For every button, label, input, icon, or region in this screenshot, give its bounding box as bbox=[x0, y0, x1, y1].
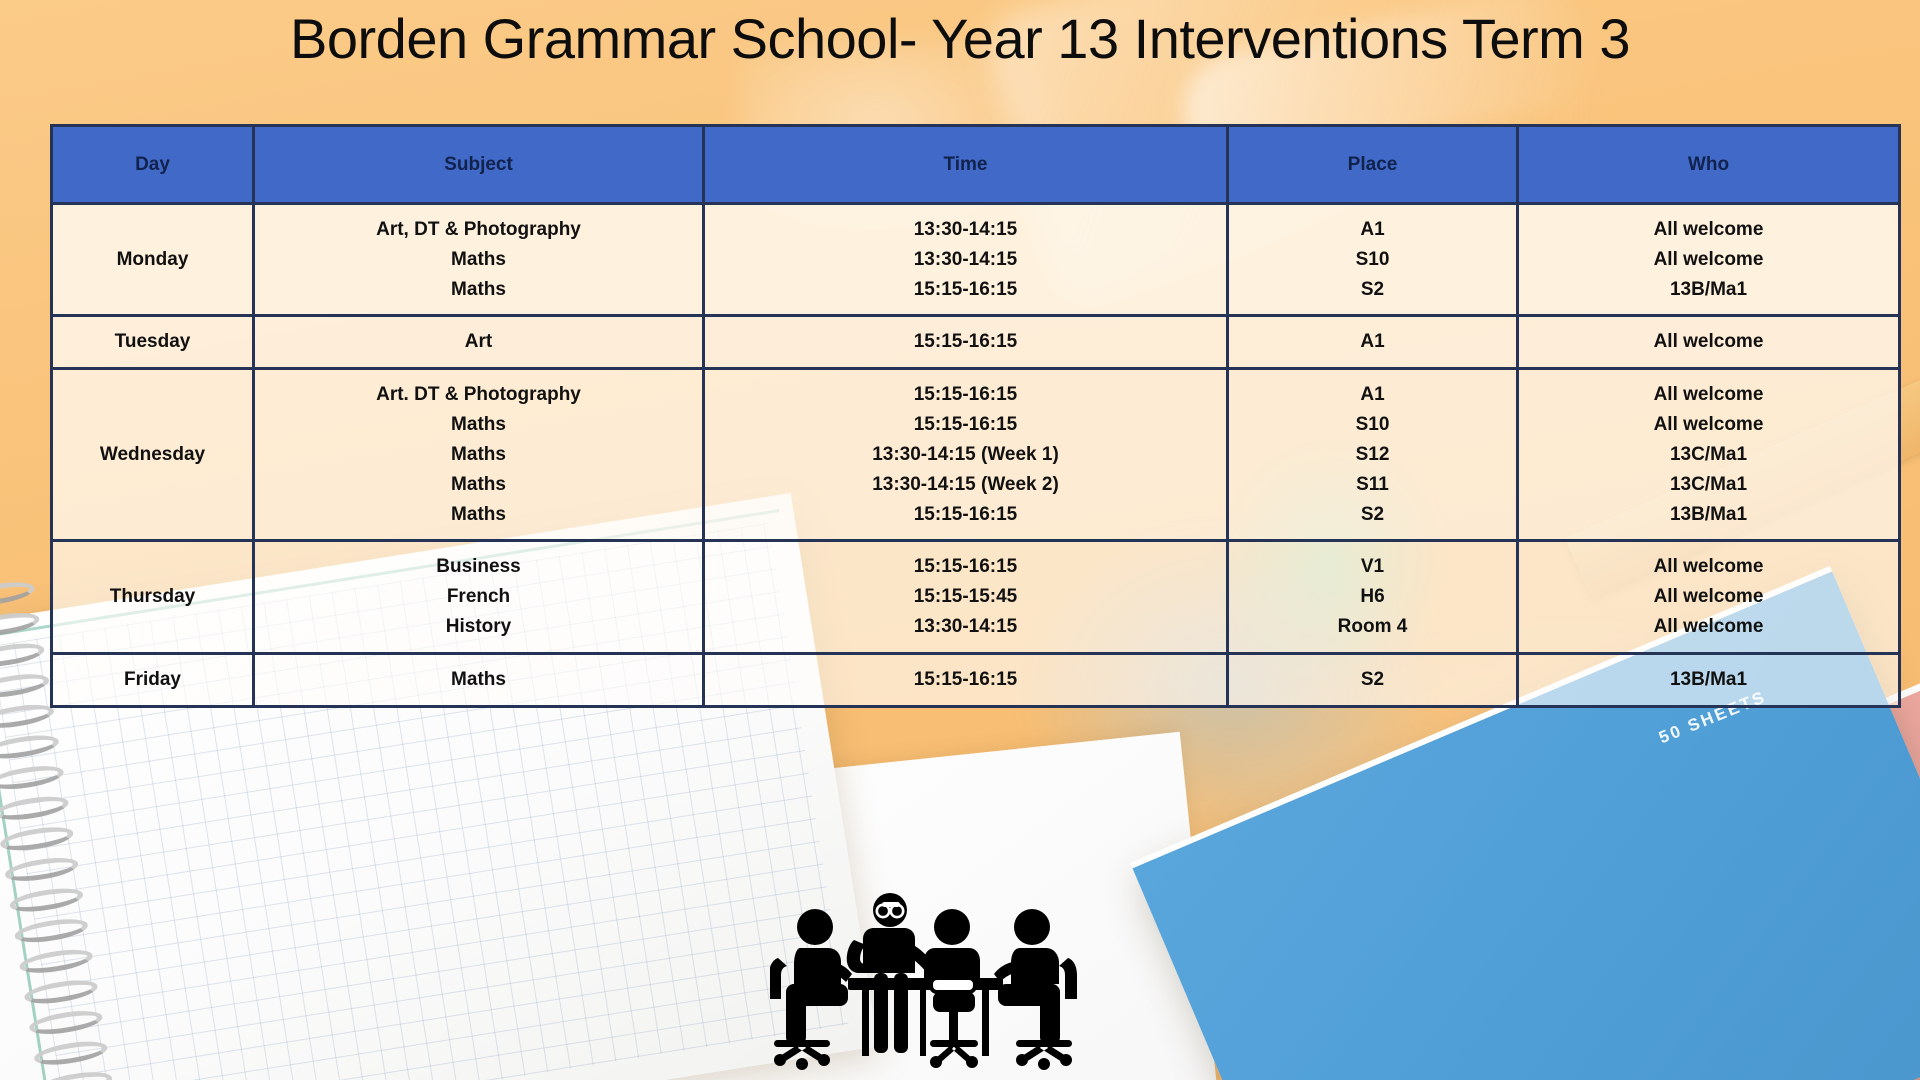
spiral-ring bbox=[0, 823, 75, 854]
who-line: All welcome bbox=[1525, 215, 1892, 245]
meeting-silhouette-icon bbox=[770, 880, 1080, 1080]
cell-who: All welcomeAll welcome13B/Ma1 bbox=[1518, 204, 1900, 316]
table-body: MondayArt, DT & PhotographyMathsMaths13:… bbox=[52, 204, 1900, 707]
cell-place: S2 bbox=[1228, 653, 1518, 706]
cell-day: Tuesday bbox=[52, 316, 254, 369]
time-line: 15:15-16:15 bbox=[711, 665, 1220, 695]
spiral-ring bbox=[13, 915, 89, 946]
cell-subject: Art bbox=[254, 316, 704, 369]
interventions-table: Day Subject Time Place Who MondayArt, DT… bbox=[50, 124, 1901, 708]
place-line: S10 bbox=[1235, 245, 1510, 275]
time-line: 15:15-16:15 bbox=[711, 380, 1220, 410]
table-row: ThursdayBusinessFrenchHistory15:15-16:15… bbox=[52, 541, 1900, 653]
spiral-ring bbox=[23, 976, 99, 1007]
subject-line: Maths bbox=[261, 470, 696, 500]
spiral-ring bbox=[0, 731, 60, 762]
place-line: S10 bbox=[1235, 410, 1510, 440]
table-row: MondayArt, DT & PhotographyMathsMaths13:… bbox=[52, 204, 1900, 316]
who-line: All welcome bbox=[1525, 582, 1892, 612]
cell-subject: Art. DT & PhotographyMathsMathsMathsMath… bbox=[254, 369, 704, 541]
cell-subject: Art, DT & PhotographyMathsMaths bbox=[254, 204, 704, 316]
column-header-who: Who bbox=[1518, 126, 1900, 204]
time-line: 15:15-16:15 bbox=[711, 552, 1220, 582]
who-line: 13B/Ma1 bbox=[1525, 665, 1892, 695]
subject-line: Maths bbox=[261, 440, 696, 470]
cell-time: 15:15-16:15 bbox=[704, 653, 1228, 706]
who-line: 13C/Ma1 bbox=[1525, 440, 1892, 470]
place-line: S2 bbox=[1235, 275, 1510, 305]
subject-line: Business bbox=[261, 552, 696, 582]
page-title: Borden Grammar School- Year 13 Intervent… bbox=[0, 8, 1920, 70]
who-line: 13C/Ma1 bbox=[1525, 470, 1892, 500]
time-line: 13:30-14:15 bbox=[711, 245, 1220, 275]
spiral-ring bbox=[0, 701, 55, 732]
time-line: 15:15-16:15 bbox=[711, 500, 1220, 530]
time-line: 13:30-14:15 bbox=[711, 612, 1220, 642]
who-line: All welcome bbox=[1525, 552, 1892, 582]
spiral-ring bbox=[33, 1037, 109, 1068]
cell-time: 15:15-16:1515:15-15:4513:30-14:15 bbox=[704, 541, 1228, 653]
place-line: S2 bbox=[1235, 665, 1510, 695]
cell-place: A1S10S12S11S2 bbox=[1228, 369, 1518, 541]
place-line: A1 bbox=[1235, 380, 1510, 410]
cell-place: V1H6Room 4 bbox=[1228, 541, 1518, 653]
who-line: 13B/Ma1 bbox=[1525, 275, 1892, 305]
cell-subject: Maths bbox=[254, 653, 704, 706]
table-row: FridayMaths15:15-16:15S213B/Ma1 bbox=[52, 653, 1900, 706]
spiral-ring bbox=[0, 793, 70, 824]
column-header-subject: Subject bbox=[254, 126, 704, 204]
place-line: S2 bbox=[1235, 500, 1510, 530]
place-line: V1 bbox=[1235, 552, 1510, 582]
cell-place: A1 bbox=[1228, 316, 1518, 369]
cell-time: 13:30-14:1513:30-14:1515:15-16:15 bbox=[704, 204, 1228, 316]
subject-line: Maths bbox=[261, 245, 696, 275]
spiral-ring bbox=[37, 1068, 113, 1080]
table-row: WednesdayArt. DT & PhotographyMathsMaths… bbox=[52, 369, 1900, 541]
time-line: 15:15-16:15 bbox=[711, 275, 1220, 305]
time-line: 15:15-15:45 bbox=[711, 582, 1220, 612]
table-row: TuesdayArt15:15-16:15A1All welcome bbox=[52, 316, 1900, 369]
cell-who: All welcomeAll welcome13C/Ma113C/Ma113B/… bbox=[1518, 369, 1900, 541]
place-line: S12 bbox=[1235, 440, 1510, 470]
spiral-ring bbox=[28, 1007, 104, 1038]
cell-time: 15:15-16:15 bbox=[704, 316, 1228, 369]
who-line: All welcome bbox=[1525, 380, 1892, 410]
subject-line: French bbox=[261, 582, 696, 612]
place-line: S11 bbox=[1235, 470, 1510, 500]
cell-who: All welcomeAll welcomeAll welcome bbox=[1518, 541, 1900, 653]
table-header: Day Subject Time Place Who bbox=[52, 126, 1900, 204]
subject-line: Maths bbox=[261, 500, 696, 530]
cell-place: A1S10S2 bbox=[1228, 204, 1518, 316]
who-line: 13B/Ma1 bbox=[1525, 500, 1892, 530]
cell-day: Thursday bbox=[52, 541, 254, 653]
subject-line: Maths bbox=[261, 410, 696, 440]
cell-day: Monday bbox=[52, 204, 254, 316]
spiral-ring bbox=[0, 578, 36, 609]
cell-day: Friday bbox=[52, 653, 254, 706]
place-line: A1 bbox=[1235, 215, 1510, 245]
subject-line: History bbox=[261, 612, 696, 642]
who-line: All welcome bbox=[1525, 410, 1892, 440]
spiral-ring bbox=[0, 639, 46, 670]
spiral-ring bbox=[8, 884, 84, 915]
who-line: All welcome bbox=[1525, 245, 1892, 275]
spiral-ring bbox=[0, 609, 41, 640]
interventions-table-wrapper: Day Subject Time Place Who MondayArt, DT… bbox=[50, 124, 1898, 708]
time-line: 15:15-16:15 bbox=[711, 327, 1220, 357]
subject-line: Maths bbox=[261, 665, 696, 695]
table-header-row: Day Subject Time Place Who bbox=[52, 126, 1900, 204]
subject-line: Art, DT & Photography bbox=[261, 215, 696, 245]
place-line: H6 bbox=[1235, 582, 1510, 612]
cell-who: 13B/Ma1 bbox=[1518, 653, 1900, 706]
spiral-ring bbox=[18, 946, 94, 977]
subject-line: Art. DT & Photography bbox=[261, 380, 696, 410]
column-header-time: Time bbox=[704, 126, 1228, 204]
cell-time: 15:15-16:1515:15-16:1513:30-14:15 (Week … bbox=[704, 369, 1228, 541]
cell-who: All welcome bbox=[1518, 316, 1900, 369]
place-line: A1 bbox=[1235, 327, 1510, 357]
time-line: 13:30-14:15 (Week 2) bbox=[711, 470, 1220, 500]
time-line: 13:30-14:15 (Week 1) bbox=[711, 440, 1220, 470]
subject-line: Art bbox=[261, 327, 696, 357]
spiral-ring bbox=[0, 670, 51, 701]
who-line: All welcome bbox=[1525, 327, 1892, 357]
cell-day: Wednesday bbox=[52, 369, 254, 541]
who-line: All welcome bbox=[1525, 612, 1892, 642]
spiral-ring bbox=[3, 854, 79, 885]
column-header-day: Day bbox=[52, 126, 254, 204]
time-line: 13:30-14:15 bbox=[711, 215, 1220, 245]
place-line: Room 4 bbox=[1235, 612, 1510, 642]
cell-subject: BusinessFrenchHistory bbox=[254, 541, 704, 653]
subject-line: Maths bbox=[261, 275, 696, 305]
spiral-ring bbox=[0, 762, 65, 793]
column-header-place: Place bbox=[1228, 126, 1518, 204]
time-line: 15:15-16:15 bbox=[711, 410, 1220, 440]
